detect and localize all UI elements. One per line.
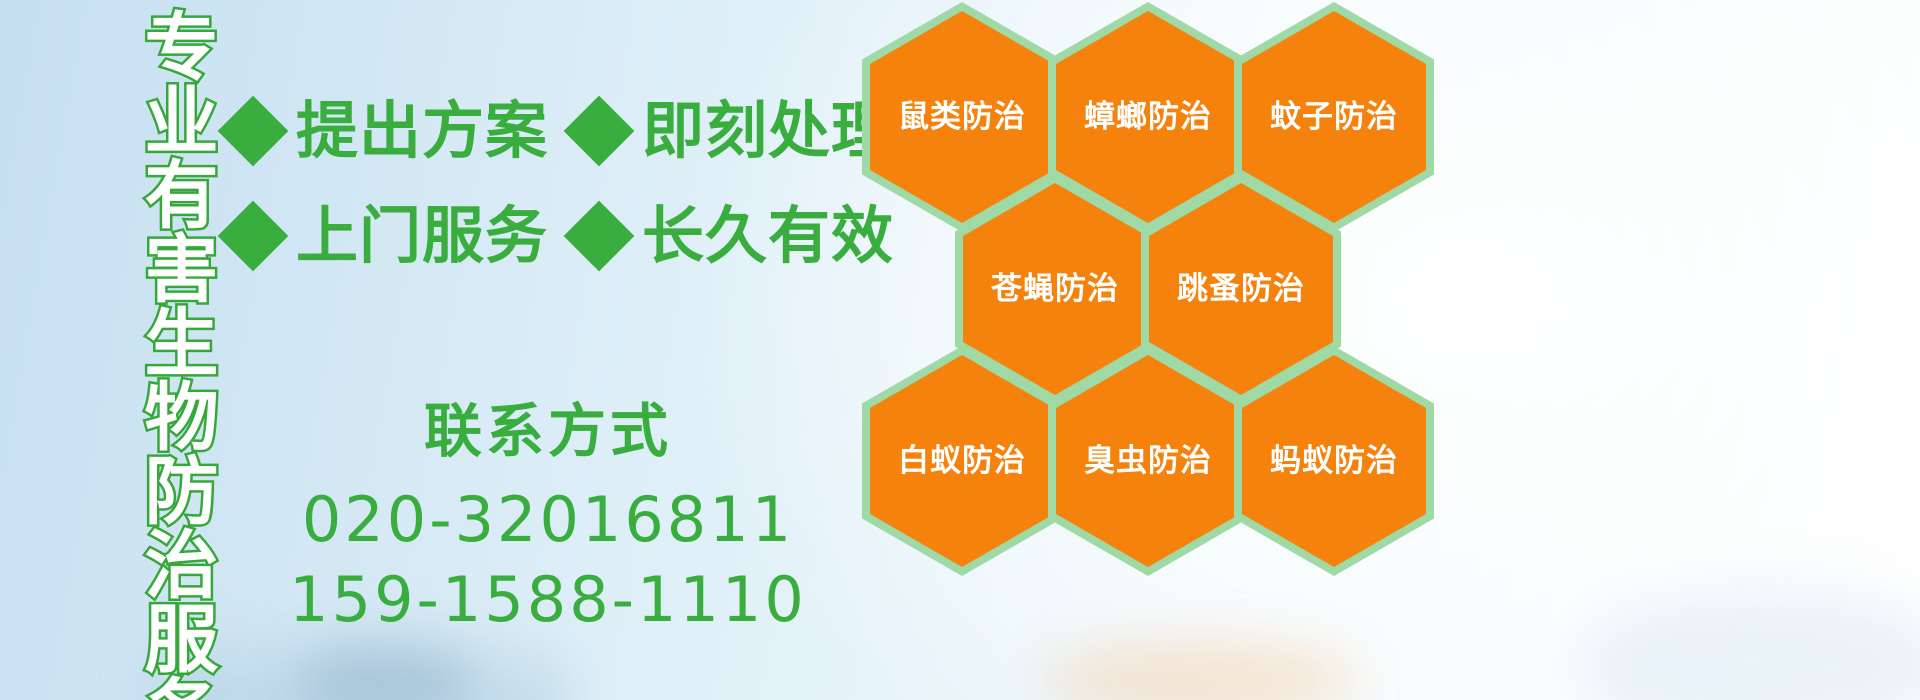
hex-label: 跳蚤防治: [1177, 272, 1305, 306]
contact-title: 联系方式: [228, 398, 868, 464]
hex-label: 白蚁防治: [898, 444, 1026, 478]
feature-label: 上门服务: [296, 205, 548, 267]
hex-inner: 臭虫防治: [1056, 355, 1240, 567]
feature-label: 提出方案: [296, 100, 548, 162]
background-blur-shape: [1040, 640, 1360, 700]
promo-banner: 专业有害生物防治服务 提出方案 即刻处理 上门服务 长久有效 联系方式 0: [0, 0, 1920, 700]
phone-number-mobile[interactable]: 159-1588-1110: [228, 560, 868, 640]
feature-item-long-lasting: 长久有效: [574, 205, 894, 267]
diamond-icon: [564, 95, 635, 166]
hex-label: 鼠类防治: [898, 100, 1026, 134]
hex-label: 蚂蚁防治: [1270, 444, 1398, 478]
vertical-slogan: 专业有害生物防治服务: [108, 8, 212, 700]
contact-block: 联系方式 020-32016811 159-1588-1110: [228, 398, 868, 640]
feature-row: 上门服务 长久有效: [228, 183, 868, 288]
feature-list: 提出方案 即刻处理 上门服务 长久有效: [228, 78, 868, 288]
hex-label: 苍蝇防治: [991, 272, 1119, 306]
diamond-icon: [218, 200, 289, 271]
hex-label: 蟑螂防治: [1084, 100, 1212, 134]
background-blur-shape: [300, 648, 470, 700]
phone-number-landline[interactable]: 020-32016811: [228, 480, 868, 560]
hex-label: 臭虫防治: [1084, 444, 1212, 478]
hex-inner: 白蚁防治: [870, 355, 1054, 567]
feature-item-propose-plan: 提出方案: [228, 100, 548, 162]
feature-item-immediate-handling: 即刻处理: [574, 100, 894, 162]
diamond-icon: [564, 200, 635, 271]
feature-label: 即刻处理: [642, 100, 894, 162]
feature-row: 提出方案 即刻处理: [228, 78, 868, 183]
feature-label: 长久有效: [642, 205, 894, 267]
service-honeycomb: 鼠类防治 蟑螂防治 蚊子防治 苍蝇防治 跳蚤防治 白蚁防治: [862, 0, 1462, 574]
diamond-icon: [218, 95, 289, 166]
feature-item-onsite-service: 上门服务: [228, 205, 548, 267]
hex-inner: 蚂蚁防治: [1242, 355, 1426, 567]
hex-label: 蚊子防治: [1270, 100, 1398, 134]
background-blur-shape: [1580, 590, 1920, 700]
